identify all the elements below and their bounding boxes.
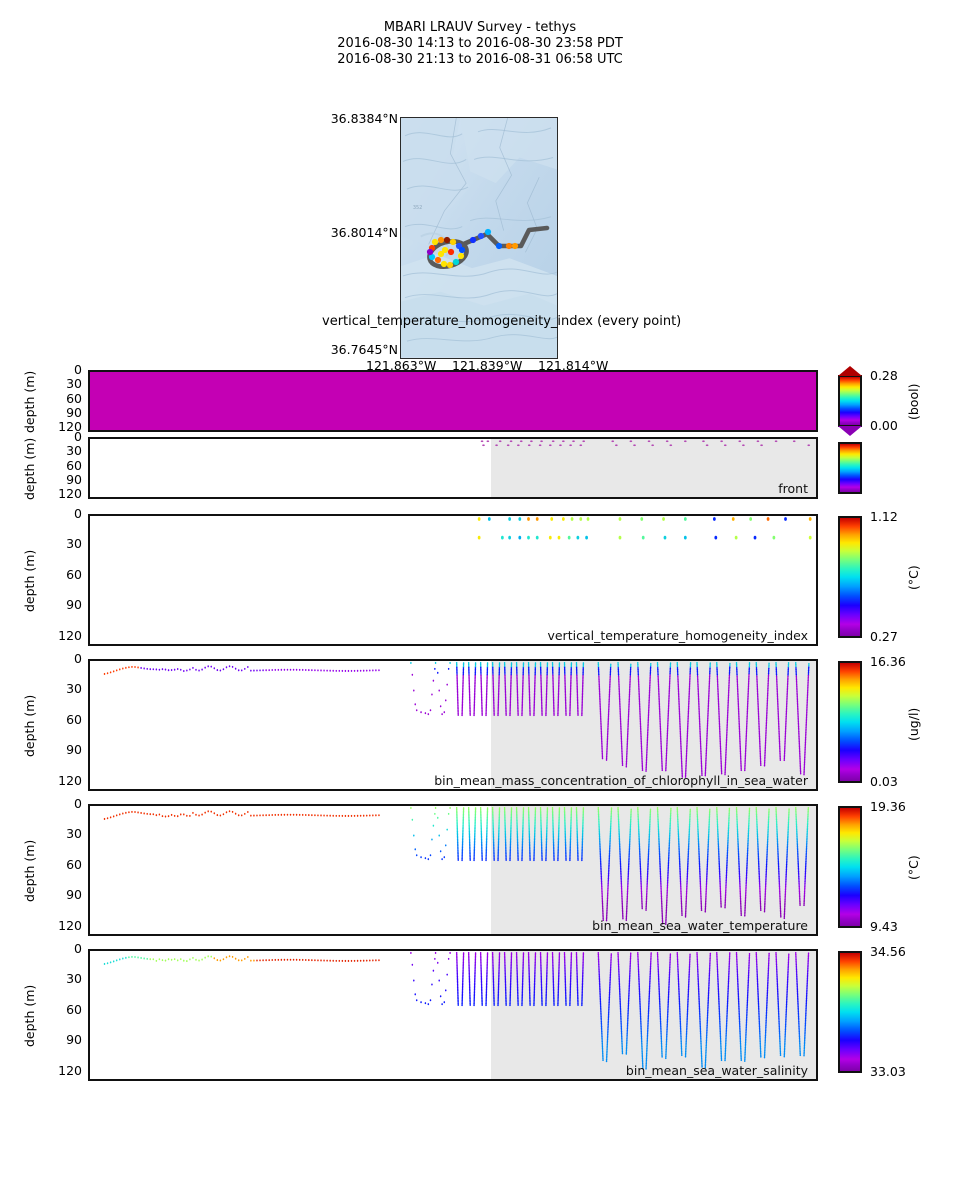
data-point — [425, 1002, 427, 1004]
data-point — [425, 712, 427, 714]
depth-tick-label: 60 — [66, 714, 82, 726]
data-point — [528, 444, 531, 446]
data-point — [433, 970, 435, 972]
data-point — [226, 956, 228, 958]
data-point — [430, 854, 432, 856]
data-point — [244, 813, 246, 815]
data-point — [186, 669, 188, 671]
data-point — [198, 960, 200, 962]
data-point — [122, 813, 124, 815]
depth-tick-label: 0 — [74, 943, 82, 955]
data-point — [134, 811, 136, 813]
data-point — [278, 669, 280, 671]
depth-tick-label: 60 — [66, 859, 82, 871]
data-point — [499, 662, 501, 664]
panel-salinity[interactable]: bin_mean_sea_water_salinity — [88, 949, 818, 1081]
data-point — [287, 669, 289, 671]
data-point — [499, 440, 502, 442]
data-point — [508, 517, 511, 521]
data-point — [192, 812, 194, 814]
panel-data-layer — [90, 439, 816, 497]
data-point — [201, 814, 203, 816]
data-point — [220, 814, 222, 816]
depth-tick-label: 90 — [66, 407, 82, 419]
data-point — [713, 517, 716, 521]
depth-tick-label: 60 — [66, 393, 82, 405]
figure-title: MBARI LRAUV Survey - tethys — [0, 20, 960, 36]
data-point — [457, 714, 459, 716]
data-point — [253, 815, 255, 817]
data-point — [284, 669, 286, 671]
data-point — [360, 815, 362, 817]
depth-tick-label: 30 — [66, 378, 82, 390]
data-point — [162, 668, 164, 670]
data-point — [348, 815, 350, 817]
data-point — [720, 906, 722, 908]
data-point — [808, 663, 810, 665]
data-point — [210, 956, 212, 958]
data-point — [207, 665, 209, 667]
data-point — [342, 670, 344, 672]
data-point — [296, 669, 298, 671]
data-point — [226, 666, 228, 668]
depth-axis-label: depth (m) — [22, 550, 37, 612]
data-point — [709, 808, 711, 810]
data-point — [413, 980, 415, 982]
data-point — [296, 814, 298, 816]
depth-tick-label: 120 — [58, 630, 82, 642]
data-point — [565, 859, 567, 861]
data-point — [375, 814, 377, 816]
data-point — [559, 807, 561, 809]
data-point — [342, 960, 344, 962]
data-point — [189, 958, 191, 960]
data-point — [701, 909, 703, 911]
data-point — [413, 690, 415, 692]
data-point — [372, 814, 374, 816]
data-point — [262, 814, 264, 816]
panel-data-layer — [90, 806, 816, 934]
data-point — [433, 680, 435, 682]
data-point — [445, 989, 447, 991]
data-point — [446, 829, 448, 831]
data-point — [259, 959, 261, 961]
data-point — [481, 440, 484, 442]
data-point — [767, 517, 770, 521]
data-point — [463, 952, 465, 954]
data-point — [648, 440, 651, 442]
data-point — [508, 536, 511, 540]
data-point — [119, 813, 121, 815]
data-point — [410, 952, 412, 954]
data-point — [757, 440, 760, 442]
data-point — [250, 815, 252, 817]
data-point — [195, 814, 197, 816]
data-point — [690, 662, 692, 664]
data-point — [412, 819, 414, 821]
data-point — [299, 959, 301, 961]
data-point — [345, 960, 347, 962]
data-point — [448, 668, 450, 670]
data-point — [729, 808, 731, 810]
data-point — [420, 711, 422, 713]
data-point — [571, 807, 573, 809]
data-point — [445, 844, 447, 846]
data-point — [165, 816, 167, 818]
data-point — [125, 812, 127, 814]
data-point — [366, 670, 368, 672]
data-point — [445, 699, 447, 701]
data-point — [529, 859, 531, 861]
data-point — [437, 817, 439, 819]
figure-subtitle-pdt: 2016-08-30 14:13 to 2016-08-30 23:58 PDT — [0, 36, 960, 52]
data-point — [547, 662, 549, 664]
data-point — [183, 813, 185, 815]
data-point — [577, 714, 579, 716]
data-point — [226, 811, 228, 813]
data-point — [535, 662, 537, 664]
data-point — [449, 952, 451, 954]
data-point — [320, 814, 322, 816]
data-point — [275, 669, 277, 671]
panel-chlorophyll[interactable]: bin_mean_mass_concentration_of_chlorophy… — [88, 659, 818, 791]
data-point — [768, 808, 770, 810]
data-point — [287, 814, 289, 816]
data-point — [378, 669, 380, 671]
data-point — [354, 960, 356, 962]
data-point — [302, 959, 304, 961]
data-point — [448, 958, 450, 960]
data-point — [232, 811, 234, 813]
data-point — [290, 959, 292, 961]
data-point — [180, 669, 182, 671]
panel-front[interactable]: front — [88, 437, 818, 499]
depth-tick-label: 90 — [66, 744, 82, 756]
data-point — [159, 958, 161, 960]
data-point — [527, 536, 530, 540]
data-point — [278, 959, 280, 961]
data-point — [357, 960, 359, 962]
data-point — [565, 714, 567, 716]
depth-axis-ticklabels: 0306090120 — [34, 804, 82, 936]
track-sample-dots — [427, 229, 518, 268]
data-point — [363, 670, 365, 672]
data-point — [702, 440, 705, 442]
data-point — [329, 815, 331, 817]
data-point — [435, 807, 437, 809]
data-point — [223, 813, 225, 815]
data-point — [116, 814, 118, 816]
data-point — [317, 959, 319, 961]
data-point — [119, 668, 121, 670]
data-point — [320, 669, 322, 671]
data-point — [326, 815, 328, 817]
data-point — [437, 672, 439, 674]
data-point — [611, 440, 614, 442]
data-point — [670, 808, 672, 810]
data-point — [760, 764, 762, 766]
data-point — [571, 662, 573, 664]
data-point — [572, 440, 575, 442]
data-point — [156, 960, 158, 962]
data-point — [317, 814, 319, 816]
data-point — [342, 815, 344, 817]
data-point — [146, 813, 148, 815]
depth-tick-label: 30 — [66, 445, 82, 457]
data-point — [220, 959, 222, 961]
data-point — [159, 669, 161, 671]
data-point — [428, 1003, 430, 1005]
data-point — [444, 1001, 446, 1003]
data-point — [137, 956, 139, 958]
data-point — [308, 669, 310, 671]
data-point — [348, 670, 350, 672]
data-point — [369, 814, 371, 816]
data-point — [281, 959, 283, 961]
data-point — [317, 669, 319, 671]
data-point — [780, 759, 782, 761]
data-point — [320, 959, 322, 961]
data-point — [669, 444, 672, 446]
data-point — [278, 814, 280, 816]
data-point — [143, 957, 145, 959]
depth-tick-label: 0 — [74, 364, 82, 376]
data-point — [293, 669, 295, 671]
data-point — [168, 958, 170, 960]
data-point — [271, 814, 273, 816]
data-point — [128, 811, 130, 813]
data-point — [481, 714, 483, 716]
data-point — [449, 807, 451, 809]
data-point — [558, 536, 561, 540]
data-point — [335, 815, 337, 817]
data-point — [140, 667, 142, 669]
data-point — [571, 517, 574, 521]
data-point — [690, 809, 692, 811]
depth-axis-label: depth (m) — [22, 840, 37, 902]
data-point — [754, 536, 757, 540]
data-point — [684, 536, 687, 540]
data-point — [104, 963, 106, 965]
data-point — [410, 807, 412, 809]
panel-temperature[interactable]: bin_mean_sea_water_temperature — [88, 804, 818, 936]
data-point — [171, 959, 173, 961]
data-point — [582, 440, 585, 442]
data-point — [192, 667, 194, 669]
data-point — [434, 958, 436, 960]
panel-chlorophyll-caption: bin_mean_mass_concentration_of_chlorophy… — [434, 773, 808, 788]
data-point — [372, 669, 374, 671]
data-point — [125, 957, 127, 959]
data-point — [314, 814, 316, 816]
map-lat-label-mid: 36.8014°N — [248, 225, 398, 240]
data-point — [174, 669, 176, 671]
data-point — [640, 517, 643, 521]
data-point — [247, 811, 249, 813]
data-point — [768, 662, 770, 664]
data-point — [448, 813, 450, 815]
data-point — [308, 959, 310, 961]
data-point — [168, 815, 170, 817]
data-point — [416, 999, 418, 1001]
data-point — [348, 960, 350, 962]
data-point — [414, 993, 416, 995]
data-point — [308, 814, 310, 816]
data-point — [541, 714, 543, 716]
data-point — [134, 956, 136, 958]
data-point — [171, 814, 173, 816]
data-point — [351, 815, 353, 817]
data-point — [788, 662, 790, 664]
data-point — [302, 814, 304, 816]
data-point — [113, 670, 115, 672]
data-point — [326, 670, 328, 672]
data-point — [440, 705, 442, 707]
data-point — [153, 668, 155, 670]
data-point — [162, 959, 164, 961]
data-point — [357, 670, 359, 672]
data-point — [110, 671, 112, 673]
data-point — [104, 673, 106, 675]
data-point — [323, 670, 325, 672]
panel-vthi-caption: vertical_temperature_homogeneity_index — [547, 628, 808, 643]
panel-front-caption: front — [778, 481, 808, 496]
data-point — [478, 517, 481, 521]
panel-data-layer — [90, 661, 816, 789]
data-point — [416, 709, 418, 711]
depth-tick-label: 90 — [66, 474, 82, 486]
data-point — [760, 909, 762, 911]
depth-axis-label: depth (m) — [22, 371, 37, 433]
data-point — [457, 1004, 459, 1006]
data-point — [113, 815, 115, 817]
data-point — [107, 962, 109, 964]
depth-tick-label: 60 — [66, 460, 82, 472]
data-point — [323, 815, 325, 817]
data-point — [247, 666, 249, 668]
data-point — [238, 959, 240, 961]
data-point — [177, 668, 179, 670]
data-point — [720, 440, 723, 442]
data-point — [579, 444, 582, 446]
data-point — [305, 814, 307, 816]
data-point — [238, 814, 240, 816]
data-point — [475, 662, 477, 664]
data-point — [262, 669, 264, 671]
data-point — [587, 517, 590, 521]
data-point — [481, 859, 483, 861]
data-point — [207, 810, 209, 812]
data-point — [501, 536, 504, 540]
data-point — [326, 960, 328, 962]
data-point — [156, 668, 158, 670]
data-point — [195, 669, 197, 671]
data-point — [446, 684, 448, 686]
depth-axis-ticklabels: 0306090120 — [34, 514, 82, 646]
data-point — [487, 807, 489, 809]
data-point — [146, 958, 148, 960]
data-point — [446, 974, 448, 976]
data-point — [332, 670, 334, 672]
data-point — [378, 959, 380, 961]
data-point — [553, 859, 555, 861]
data-point — [229, 810, 231, 812]
data-point — [339, 670, 341, 672]
depth-tick-label: 120 — [58, 1065, 82, 1077]
data-point — [520, 440, 523, 442]
panel-every-point[interactable] — [88, 370, 818, 432]
data-point — [684, 440, 687, 442]
data-point — [428, 713, 430, 715]
data-point — [162, 815, 164, 817]
data-point — [140, 812, 142, 814]
depth-tick-label: 30 — [66, 683, 82, 695]
data-point — [488, 517, 491, 521]
data-point — [615, 444, 618, 446]
panel-vthi[interactable]: vertical_temperature_homogeneity_index — [88, 514, 818, 646]
data-point — [210, 811, 212, 813]
data-point — [724, 444, 727, 446]
data-point — [440, 850, 442, 852]
data-point — [642, 769, 644, 771]
data-point — [241, 814, 243, 816]
data-point — [250, 960, 252, 962]
data-point — [186, 960, 188, 962]
data-point — [428, 858, 430, 860]
data-point — [440, 995, 442, 997]
data-point — [220, 669, 222, 671]
depth-tick-label: 90 — [66, 889, 82, 901]
data-point — [568, 536, 571, 540]
data-point — [247, 956, 249, 958]
data-point — [430, 999, 432, 1001]
data-point — [547, 807, 549, 809]
data-point — [311, 959, 313, 961]
data-point — [214, 667, 216, 669]
data-point — [287, 959, 289, 961]
data-point — [463, 662, 465, 664]
data-point — [549, 444, 552, 446]
data-point — [232, 666, 234, 668]
data-point — [438, 980, 440, 982]
data-point — [140, 957, 142, 959]
data-point — [299, 669, 301, 671]
data-point — [619, 517, 622, 521]
data-point — [539, 444, 542, 446]
data-point — [119, 958, 121, 960]
data-point — [131, 666, 133, 668]
data-point — [284, 959, 286, 961]
data-point — [650, 663, 652, 665]
depth-axis-ticklabels: 0306090120 — [34, 949, 82, 1081]
data-point — [518, 517, 521, 521]
data-point — [773, 536, 776, 540]
data-point — [784, 517, 787, 521]
data-point — [214, 957, 216, 959]
data-point — [585, 536, 588, 540]
data-point — [788, 808, 790, 810]
depth-tick-label: 30 — [66, 973, 82, 985]
data-point — [143, 812, 145, 814]
data-point — [441, 858, 443, 860]
figure-subtitle-utc: 2016-08-30 21:13 to 2016-08-31 06:58 UTC — [0, 52, 960, 68]
data-point — [650, 809, 652, 811]
data-point — [281, 669, 283, 671]
data-point — [475, 952, 477, 954]
data-point — [569, 444, 572, 446]
map-caption: vertical_temperature_homogeneity_index (… — [322, 314, 681, 329]
data-point — [517, 859, 519, 861]
